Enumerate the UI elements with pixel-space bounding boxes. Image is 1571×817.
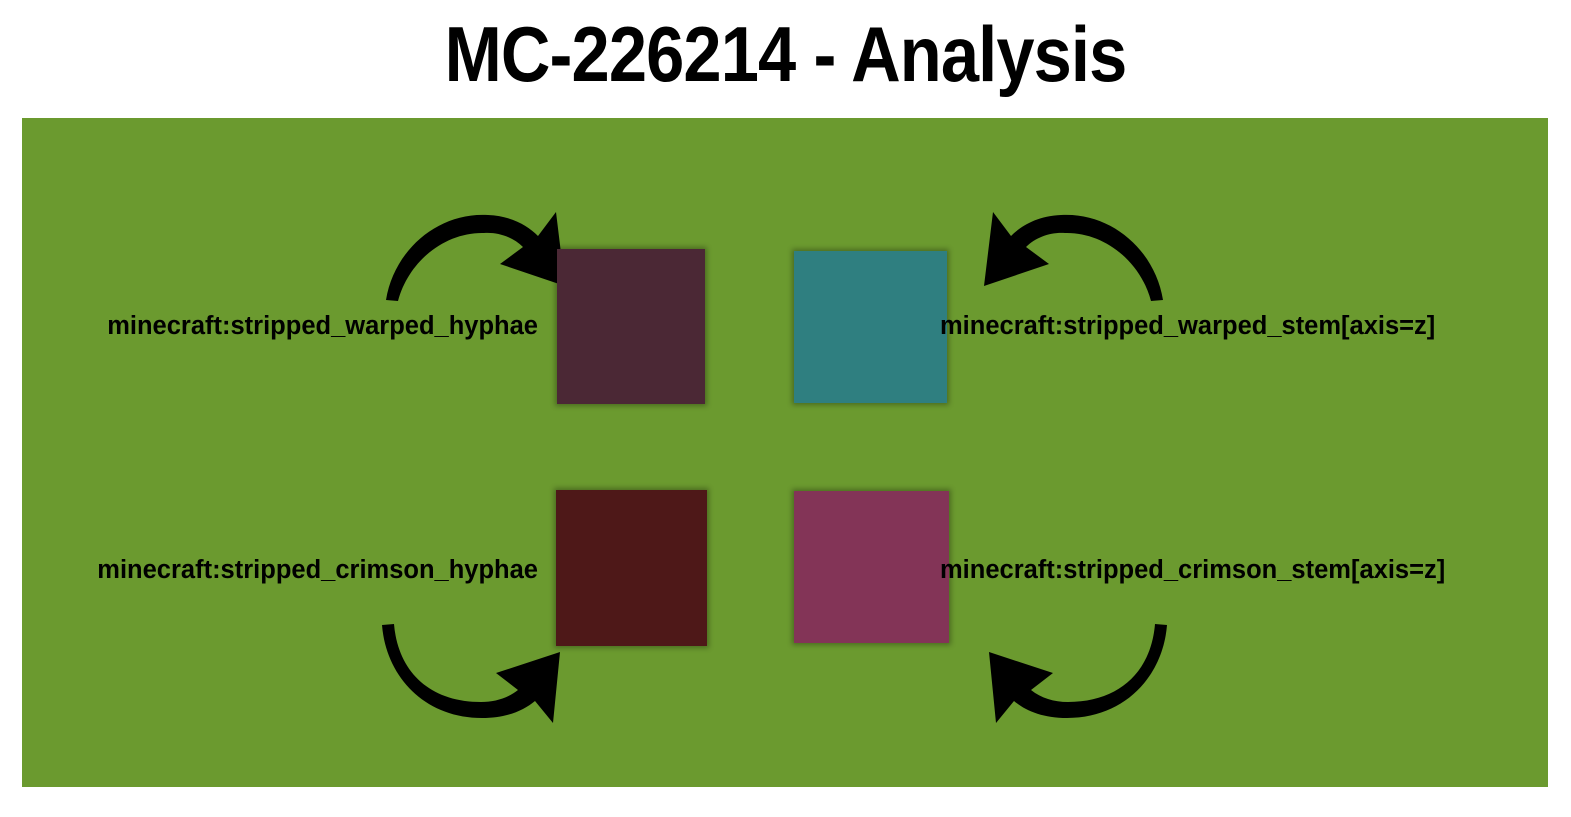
color-swatch-stripped-warped-stem bbox=[794, 251, 947, 403]
color-swatch-stripped-warped-hyphae bbox=[557, 249, 705, 404]
page-title: MC-226214 - Analysis bbox=[94, 4, 1476, 104]
curved-arrow-down-left-icon bbox=[974, 618, 1189, 738]
color-swatch-stripped-crimson-hyphae bbox=[556, 490, 707, 646]
analysis-figure: MC-226214 - Analysis minecraft:stripped_… bbox=[0, 0, 1571, 817]
label-stripped-crimson-stem: minecraft:stripped_crimson_stem[axis=z] bbox=[940, 558, 1445, 584]
label-stripped-crimson-hyphae: minecraft:stripped_crimson_hyphae bbox=[97, 558, 538, 584]
curved-arrow-left-icon bbox=[974, 188, 1189, 303]
color-swatch-stripped-crimson-stem bbox=[794, 491, 949, 643]
label-stripped-warped-stem: minecraft:stripped_warped_stem[axis=z] bbox=[940, 314, 1435, 340]
label-stripped-warped-hyphae: minecraft:stripped_warped_hyphae bbox=[107, 314, 538, 340]
diagram-panel: minecraft:stripped_warped_hyphae minecra… bbox=[22, 118, 1548, 787]
curved-arrow-down-right-icon bbox=[360, 618, 570, 738]
curved-arrow-right-icon bbox=[360, 188, 570, 303]
